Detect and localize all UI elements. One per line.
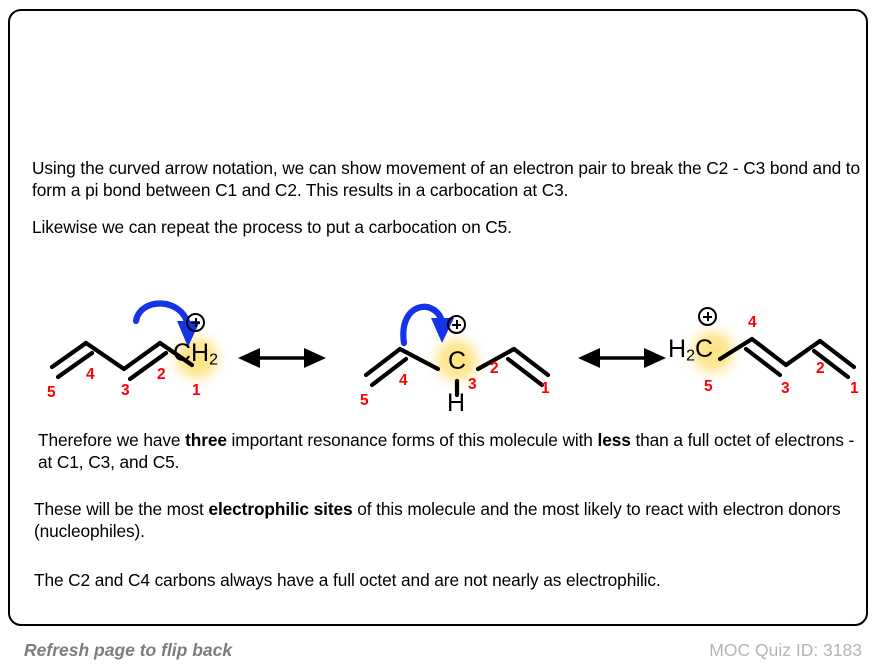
paragraph-5: The C2 and C4 carbons always have a full… xyxy=(34,569,860,591)
carbon-number-3: 3 xyxy=(121,383,130,399)
carbon-number-2: 2 xyxy=(816,361,825,377)
paragraph-2: Likewise we can repeat the process to pu… xyxy=(32,216,860,238)
carbon-number-1: 1 xyxy=(541,381,550,397)
structure-3-cation-at-C5: H2C 5 4 3 2 1 xyxy=(668,299,868,417)
resonance-structures-diagram: CH2 5 4 3 2 1 xyxy=(26,299,870,417)
carbon-number-1: 1 xyxy=(192,383,201,399)
carbon-number-4: 4 xyxy=(748,315,757,331)
structure-1-cation-at-C1: CH2 5 4 3 2 1 xyxy=(40,299,240,417)
carbon-number-3: 3 xyxy=(468,377,477,393)
carbon-number-5: 5 xyxy=(47,385,56,401)
explanation-text-top: Using the curved arrow notation, we can … xyxy=(32,157,860,252)
carbon-number-2: 2 xyxy=(157,367,166,383)
paragraph-3: Therefore we have three important resona… xyxy=(38,429,860,474)
cation-atom-label: CH2 xyxy=(173,341,218,369)
carbon-number-4: 4 xyxy=(399,373,408,389)
positive-charge-symbol xyxy=(447,315,466,334)
structure-2-cation-at-C3: C H 5 4 3 2 1 xyxy=(342,299,574,417)
positive-charge-symbol xyxy=(186,313,205,332)
carbon-number-2: 2 xyxy=(490,361,499,377)
carbon-number-3: 3 xyxy=(781,381,790,397)
refresh-hint-label: Refresh page to flip back xyxy=(24,640,232,661)
carbon-number-4: 4 xyxy=(86,367,95,383)
quiz-id-label: MOC Quiz ID: 3183 xyxy=(709,640,862,661)
paragraph-1: Using the curved arrow notation, we can … xyxy=(32,157,860,202)
carbon-number-1: 1 xyxy=(850,381,859,397)
cation-atom-label: C xyxy=(448,349,466,374)
carbon-number-5: 5 xyxy=(704,379,713,395)
paragraph-4: These will be the most electrophilic sit… xyxy=(34,498,860,543)
explanation-text-bottom: Therefore we have three important resona… xyxy=(38,429,860,591)
carbon-number-5: 5 xyxy=(360,393,369,409)
hydrogen-atom-label: H xyxy=(447,391,465,416)
flashcard-panel: Using the curved arrow notation, we can … xyxy=(8,9,868,626)
resonance-arrow-1 xyxy=(238,345,326,371)
cation-atom-label: H2C xyxy=(668,337,713,365)
positive-charge-symbol xyxy=(698,307,717,326)
resonance-arrow-2 xyxy=(578,345,666,371)
